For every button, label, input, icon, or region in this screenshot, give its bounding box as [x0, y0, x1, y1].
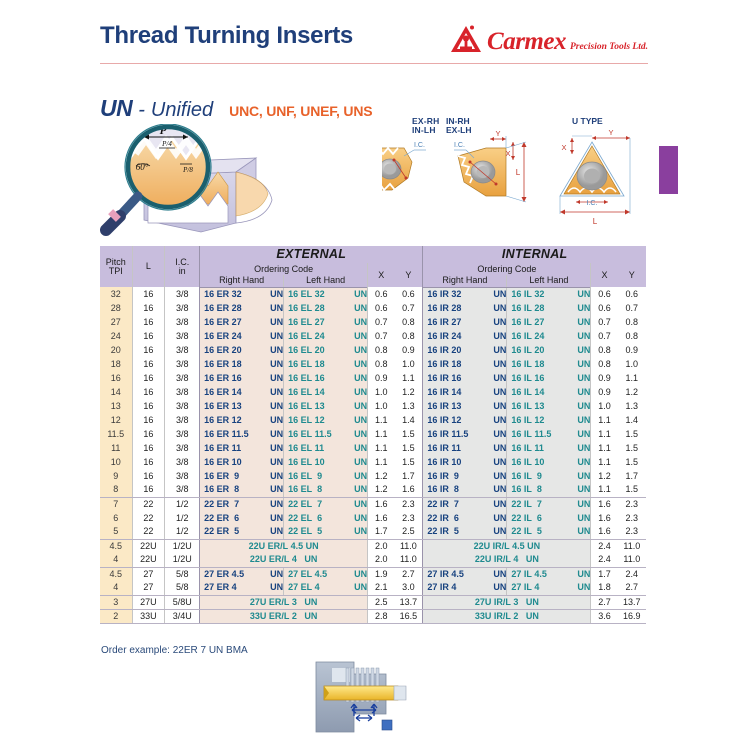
- table-row: 10163/816 ER 10UN16 EL 10UN1.11.516 IR 1…: [100, 455, 646, 469]
- table-row: 32163/816 ER 32UN16 EL 32UN0.60.616 IR 3…: [100, 287, 646, 301]
- diagram-1-ic-label: I.C.: [414, 142, 425, 149]
- cell-internal-code-merged: 33U IR/L 2 UN: [423, 609, 591, 623]
- cell-pitch: 4.5: [100, 539, 132, 553]
- cell-l: 16: [132, 287, 165, 301]
- cell-internal-right-hand: 27 IR 4UN: [423, 581, 507, 595]
- cell-internal-x: 2.4: [591, 553, 618, 567]
- cell-ic: 3/8: [165, 441, 200, 455]
- diagram-ex-rh-in-lh: EX-RH IN-LH I.C.: [382, 116, 439, 190]
- cell-external-x: 1.6: [368, 497, 395, 511]
- table-row: 11.5163/816 ER 11.5UN16 EL 11.5UN1.11.51…: [100, 427, 646, 441]
- cell-internal-left-hand: 22 IL 7UN: [507, 497, 591, 511]
- cell-ic: 1/2U: [165, 553, 200, 567]
- cell-internal-x: 1.1: [591, 455, 618, 469]
- table-row: 8163/816 ER 8UN16 EL 8UN1.21.616 IR 8UN1…: [100, 483, 646, 497]
- cell-external-left-hand: 16 EL 24UN: [284, 329, 368, 343]
- cell-external-y: 1.6: [394, 483, 423, 497]
- table-row: 4.522U1/2U22U ER/L 4.5 UN2.011.022U IR/L…: [100, 539, 646, 553]
- cell-external-y: 3.0: [394, 581, 423, 595]
- cell-internal-right-hand: 22 IR 7UN: [423, 497, 507, 511]
- cell-external-right-hand: 16 ER 12UN: [200, 413, 284, 427]
- cell-internal-x: 3.6: [591, 609, 618, 623]
- cell-internal-code-merged: 22U IR/L 4 UN: [423, 553, 591, 567]
- cell-external-left-hand: 27 EL 4.5UN: [284, 567, 368, 581]
- header-pitch: Pitch TPI: [100, 246, 132, 287]
- cell-internal-left-hand: 16 IL 13UN: [507, 399, 591, 413]
- diagram-in-rh-ex-lh: IN-RH EX-LH I.C. Y X: [446, 116, 527, 202]
- cell-external-y: 16.5: [394, 609, 423, 623]
- cell-internal-y: 1.5: [618, 441, 646, 455]
- cell-internal-y: 1.5: [618, 455, 646, 469]
- standard-dash: -: [138, 99, 145, 122]
- cell-external-x: 0.8: [368, 343, 395, 357]
- cell-pitch: 12: [100, 413, 132, 427]
- cell-external-y: 0.9: [394, 343, 423, 357]
- table-row: 233U3/4U33U ER/L 2 UN2.816.533U IR/L 2 U…: [100, 609, 646, 623]
- cell-external-left-hand: 16 EL 11UN: [284, 441, 368, 455]
- cell-l: 22: [132, 525, 165, 539]
- carmex-logo: Carmex Precision Tools Ltd.: [449, 24, 648, 54]
- cell-internal-right-hand: 16 IR 20UN: [423, 343, 507, 357]
- table-row: 28163/816 ER 28UN16 EL 28UN0.60.716 IR 2…: [100, 301, 646, 315]
- cell-internal-right-hand: 16 IR 28UN: [423, 301, 507, 315]
- cell-l: 27: [132, 581, 165, 595]
- cell-internal-x: 0.8: [591, 343, 618, 357]
- standard-variants: UNC, UNF, UNEF, UNS: [229, 103, 372, 119]
- cell-internal-x: 0.8: [591, 357, 618, 371]
- insert-diagrams: EX-RH IN-LH I.C. IN-RH EX-LH: [382, 112, 662, 242]
- cell-external-right-hand: 16 ER 9UN: [200, 469, 284, 483]
- cell-external-left-hand: 16 EL 32UN: [284, 287, 368, 301]
- cell-external-left-hand: 16 EL 28UN: [284, 301, 368, 315]
- diagram-3-ic-label: I.C.: [587, 200, 598, 207]
- cell-ic: 1/2U: [165, 539, 200, 553]
- cell-pitch: 4: [100, 553, 132, 567]
- diagram-3-y-label: Y: [608, 128, 613, 137]
- cell-external-right-hand: 16 ER 14UN: [200, 385, 284, 399]
- cell-internal-x: 0.6: [591, 287, 618, 301]
- cell-internal-x: 1.1: [591, 483, 618, 497]
- cell-internal-x: 0.7: [591, 329, 618, 343]
- cell-pitch: 20: [100, 343, 132, 357]
- table-row: 12163/816 ER 12UN16 EL 12UN1.11.416 IR 1…: [100, 413, 646, 427]
- cell-pitch: 27: [100, 315, 132, 329]
- cell-internal-y: 0.7: [618, 301, 646, 315]
- cell-internal-y: 1.2: [618, 385, 646, 399]
- standard-name: Unified: [151, 99, 213, 122]
- side-color-tab: [659, 146, 678, 194]
- cell-internal-left-hand: 16 IL 10UN: [507, 455, 591, 469]
- cell-ic: 3/4U: [165, 609, 200, 623]
- diagram-3-l-label: L: [593, 217, 598, 226]
- diagram-3-label: U TYPE: [572, 116, 603, 126]
- cell-ic: 1/2: [165, 525, 200, 539]
- cell-pitch: 14: [100, 385, 132, 399]
- diagram-2-y-label: Y: [495, 129, 500, 138]
- cell-l: 22: [132, 511, 165, 525]
- carmex-triangle-icon: [449, 24, 483, 54]
- cell-internal-y: 11.0: [618, 539, 646, 553]
- cell-pitch: 6: [100, 511, 132, 525]
- cell-internal-right-hand: 16 IR 11UN: [423, 441, 507, 455]
- cell-external-y: 2.5: [394, 525, 423, 539]
- cell-internal-y: 1.1: [618, 371, 646, 385]
- cell-external-x: 0.7: [368, 329, 395, 343]
- cell-pitch: 11.5: [100, 427, 132, 441]
- table-row: 4.5275/827 ER 4.5UN27 EL 4.5UN1.92.727 I…: [100, 567, 646, 581]
- cell-internal-right-hand: 16 IR 18UN: [423, 357, 507, 371]
- cell-external-x: 1.7: [368, 525, 395, 539]
- cell-ic: 3/8: [165, 455, 200, 469]
- cell-external-right-hand: 16 ER 24UN: [200, 329, 284, 343]
- cell-external-x: 0.8: [368, 357, 395, 371]
- header-l: L: [132, 246, 165, 287]
- cell-internal-x: 1.1: [591, 413, 618, 427]
- cell-pitch: 13: [100, 399, 132, 413]
- cell-ic: 5/8U: [165, 595, 200, 609]
- cell-internal-left-hand: 16 IL 28UN: [507, 301, 591, 315]
- cell-external-y: 1.5: [394, 455, 423, 469]
- cell-external-x: 1.0: [368, 399, 395, 413]
- cell-ic: 3/8: [165, 399, 200, 413]
- diagram-1-label-2: IN-LH: [412, 125, 436, 135]
- cell-external-right-hand: 22 ER 6UN: [200, 511, 284, 525]
- cell-external-right-hand: 27 ER 4UN: [200, 581, 284, 595]
- table-row: 11163/816 ER 11UN16 EL 11UN1.11.516 IR 1…: [100, 441, 646, 455]
- cell-external-y: 1.5: [394, 441, 423, 455]
- cell-external-x: 2.0: [368, 553, 395, 567]
- cell-external-y: 0.7: [394, 301, 423, 315]
- cell-ic: 5/8: [165, 567, 200, 581]
- cell-internal-y: 2.4: [618, 567, 646, 581]
- cell-external-y: 1.5: [394, 427, 423, 441]
- cell-external-x: 1.1: [368, 455, 395, 469]
- cell-pitch: 4.5: [100, 567, 132, 581]
- diagram-3-x-label: X: [561, 143, 566, 152]
- cell-external-left-hand: 22 EL 6UN: [284, 511, 368, 525]
- cell-external-right-hand: 16 ER 11.5UN: [200, 427, 284, 441]
- cell-l: 16: [132, 301, 165, 315]
- cell-external-x: 2.5: [368, 595, 395, 609]
- cell-external-y: 1.3: [394, 399, 423, 413]
- cell-external-left-hand: 16 EL 10UN: [284, 455, 368, 469]
- cell-pitch: 28: [100, 301, 132, 315]
- cell-external-x: 1.1: [368, 427, 395, 441]
- cell-internal-y: 0.8: [618, 315, 646, 329]
- cell-internal-left-hand: 16 IL 20UN: [507, 343, 591, 357]
- cell-ic: 3/8: [165, 301, 200, 315]
- header-internal-left-hand: Left Hand: [507, 275, 591, 287]
- cell-external-y: 11.0: [394, 539, 423, 553]
- cell-internal-x: 1.1: [591, 427, 618, 441]
- cell-external-y: 2.3: [394, 511, 423, 525]
- cell-internal-left-hand: 16 IL 11UN: [507, 441, 591, 455]
- cell-internal-left-hand: 16 IL 8UN: [507, 483, 591, 497]
- table-row: 9163/816 ER 9UN16 EL 9UN1.21.716 IR 9UN1…: [100, 469, 646, 483]
- cell-l: 33U: [132, 609, 165, 623]
- cell-external-y: 1.1: [394, 371, 423, 385]
- cell-external-y: 1.4: [394, 413, 423, 427]
- cell-external-right-hand: 16 ER 18UN: [200, 357, 284, 371]
- tool-application-illustration: [302, 658, 422, 747]
- table-row: 24163/816 ER 24UN16 EL 24UN0.70.816 IR 2…: [100, 329, 646, 343]
- cell-internal-x: 1.1: [591, 441, 618, 455]
- cell-external-left-hand: 16 EL 14UN: [284, 385, 368, 399]
- cell-external-left-hand: 16 EL 9UN: [284, 469, 368, 483]
- table-row: 18163/816 ER 18UN16 EL 18UN0.81.016 IR 1…: [100, 357, 646, 371]
- cell-internal-y: 2.3: [618, 525, 646, 539]
- thread-profile-illustration: P P/4 P/8 60°: [96, 124, 331, 241]
- header-external-ordering-code: Ordering Code: [200, 263, 368, 275]
- specification-table-wrapper: Pitch TPI L I.C. in EXTERNAL INTERNAL Or…: [100, 246, 646, 624]
- cell-external-x: 0.6: [368, 287, 395, 301]
- cell-external-x: 1.6: [368, 511, 395, 525]
- cell-l: 16: [132, 329, 165, 343]
- cell-external-right-hand: 16 ER 28UN: [200, 301, 284, 315]
- insert-marker: [382, 720, 392, 730]
- cell-external-left-hand: 16 EL 27UN: [284, 315, 368, 329]
- header-external-left-hand: Left Hand: [284, 275, 368, 287]
- cell-ic: 3/8: [165, 371, 200, 385]
- page-root: Thread Turning Inserts Carmex Precision …: [0, 0, 747, 747]
- cell-external-right-hand: 16 ER 8UN: [200, 483, 284, 497]
- cell-external-x: 2.8: [368, 609, 395, 623]
- cell-internal-y: 0.8: [618, 329, 646, 343]
- cell-internal-right-hand: 16 IR 11.5UN: [423, 427, 507, 441]
- cell-internal-y: 11.0: [618, 553, 646, 567]
- cell-external-x: 1.0: [368, 385, 395, 399]
- cell-external-right-hand: 27 ER 4.5UN: [200, 567, 284, 581]
- table-row: 4275/827 ER 4UN27 EL 4UN2.13.027 IR 4UN2…: [100, 581, 646, 595]
- cell-external-x: 1.2: [368, 483, 395, 497]
- cell-internal-x: 1.0: [591, 399, 618, 413]
- p8-dim-label: P/8: [182, 166, 193, 174]
- cell-pitch: 2: [100, 609, 132, 623]
- cell-external-left-hand: 22 EL 7UN: [284, 497, 368, 511]
- cell-internal-left-hand: 16 IL 12UN: [507, 413, 591, 427]
- cell-internal-left-hand: 16 IL 18UN: [507, 357, 591, 371]
- cell-l: 16: [132, 441, 165, 455]
- cell-internal-right-hand: 16 IR 27UN: [423, 315, 507, 329]
- cell-external-y: 1.7: [394, 469, 423, 483]
- table-row: 5221/222 ER 5UN22 EL 5UN1.72.522 IR 5UN2…: [100, 525, 646, 539]
- cell-external-left-hand: 27 EL 4UN: [284, 581, 368, 595]
- header-external: EXTERNAL: [200, 246, 423, 263]
- order-example-text: Order example: 22ER 7 UN BMA: [101, 645, 248, 656]
- cell-ic: 3/8: [165, 329, 200, 343]
- table-header-group-row: Pitch TPI L I.C. in EXTERNAL INTERNAL: [100, 246, 646, 263]
- cell-external-x: 2.1: [368, 581, 395, 595]
- cell-internal-y: 2.7: [618, 581, 646, 595]
- cell-internal-y: 1.7: [618, 469, 646, 483]
- cell-external-right-hand: 22 ER 7UN: [200, 497, 284, 511]
- cell-internal-x: 0.9: [591, 385, 618, 399]
- cell-internal-left-hand: 16 IL 16UN: [507, 371, 591, 385]
- cell-pitch: 18: [100, 357, 132, 371]
- cell-external-right-hand: 16 ER 16UN: [200, 371, 284, 385]
- cell-internal-left-hand: 27 IL 4UN: [507, 581, 591, 595]
- cell-ic: 3/8: [165, 483, 200, 497]
- header-internal-right-hand: Right Hand: [423, 275, 507, 287]
- header-external-right-hand: Right Hand: [200, 275, 284, 287]
- cell-l: 22U: [132, 539, 165, 553]
- cell-ic: 3/8: [165, 357, 200, 371]
- cell-external-left-hand: 16 EL 18UN: [284, 357, 368, 371]
- cell-ic: 3/8: [165, 427, 200, 441]
- cell-internal-left-hand: 27 IL 4.5UN: [507, 567, 591, 581]
- cell-external-left-hand: 22 EL 5UN: [284, 525, 368, 539]
- cell-external-y: 0.6: [394, 287, 423, 301]
- cell-ic: 1/2: [165, 511, 200, 525]
- diagram-2-l-label: L: [516, 168, 521, 177]
- header-ic: I.C. in: [165, 246, 200, 287]
- cell-external-x: 1.9: [368, 567, 395, 581]
- table-row: 7221/222 ER 7UN22 EL 7UN1.62.322 IR 7UN2…: [100, 497, 646, 511]
- cell-internal-x: 0.6: [591, 301, 618, 315]
- cell-ic: 3/8: [165, 469, 200, 483]
- standard-subtitle: UN - Unified UNC, UNF, UNEF, UNS: [100, 95, 372, 122]
- cell-external-x: 1.1: [368, 413, 395, 427]
- diagram-2-ic-label: I.C.: [454, 142, 465, 149]
- cell-l: 16: [132, 357, 165, 371]
- cell-ic: 3/8: [165, 385, 200, 399]
- brand-name: Carmex: [487, 29, 566, 54]
- cell-l: 16: [132, 371, 165, 385]
- cell-internal-right-hand: 16 IR 14UN: [423, 385, 507, 399]
- cell-external-y: 1.0: [394, 357, 423, 371]
- cell-l: 16: [132, 343, 165, 357]
- cell-internal-x: 0.7: [591, 315, 618, 329]
- cell-internal-right-hand: 16 IR 9UN: [423, 469, 507, 483]
- cell-internal-y: 1.5: [618, 427, 646, 441]
- cell-external-code-merged: 27U ER/L 3 UN: [200, 595, 368, 609]
- cell-l: 22U: [132, 553, 165, 567]
- cell-external-x: 0.6: [368, 301, 395, 315]
- cell-ic: 3/8: [165, 413, 200, 427]
- cell-internal-right-hand: 16 IR 10UN: [423, 455, 507, 469]
- cell-external-y: 0.8: [394, 315, 423, 329]
- cell-pitch: 3: [100, 595, 132, 609]
- table-row: 422U1/2U22U ER/L 4 UN2.011.022U IR/L 4 U…: [100, 553, 646, 567]
- cell-pitch: 9: [100, 469, 132, 483]
- table-row: 20163/816 ER 20UN16 EL 20UN0.80.916 IR 2…: [100, 343, 646, 357]
- cell-internal-code-merged: 27U IR/L 3 UN: [423, 595, 591, 609]
- cell-external-left-hand: 16 EL 16UN: [284, 371, 368, 385]
- cell-external-code-merged: 22U ER/L 4 UN: [200, 553, 368, 567]
- cell-l: 16: [132, 315, 165, 329]
- cell-ic: 5/8: [165, 581, 200, 595]
- cell-external-left-hand: 16 EL 8UN: [284, 483, 368, 497]
- cell-internal-x: 1.7: [591, 567, 618, 581]
- cell-internal-x: 2.4: [591, 539, 618, 553]
- cell-pitch: 7: [100, 497, 132, 511]
- cell-internal-y: 1.3: [618, 399, 646, 413]
- cell-external-y: 1.2: [394, 385, 423, 399]
- cell-internal-right-hand: 16 IR 12UN: [423, 413, 507, 427]
- cell-l: 16: [132, 413, 165, 427]
- cell-pitch: 10: [100, 455, 132, 469]
- cell-internal-x: 1.6: [591, 525, 618, 539]
- diagram-2-label-2: EX-LH: [446, 125, 472, 135]
- cell-external-y: 13.7: [394, 595, 423, 609]
- cell-pitch: 11: [100, 441, 132, 455]
- cell-internal-y: 1.4: [618, 413, 646, 427]
- cell-internal-code-merged: 22U IR/L 4.5 UN: [423, 539, 591, 553]
- table-row: 13163/816 ER 13UN16 EL 13UN1.01.316 IR 1…: [100, 399, 646, 413]
- cell-internal-x: 0.9: [591, 371, 618, 385]
- cell-internal-y: 1.5: [618, 483, 646, 497]
- cell-l: 22: [132, 497, 165, 511]
- cell-l: 16: [132, 455, 165, 469]
- cell-external-code-merged: 22U ER/L 4.5 UN: [200, 539, 368, 553]
- cell-external-x: 2.0: [368, 539, 395, 553]
- table-row: 327U5/8U27U ER/L 3 UN2.513.727U IR/L 3 U…: [100, 595, 646, 609]
- cell-external-y: 2.7: [394, 567, 423, 581]
- cell-internal-right-hand: 16 IR 8UN: [423, 483, 507, 497]
- page-title: Thread Turning Inserts: [100, 22, 353, 50]
- table-row: 16163/816 ER 16UN16 EL 16UN0.91.116 IR 1…: [100, 371, 646, 385]
- cell-internal-left-hand: 16 IL 24UN: [507, 329, 591, 343]
- cell-external-y: 2.3: [394, 497, 423, 511]
- cell-internal-left-hand: 22 IL 6UN: [507, 511, 591, 525]
- diagram-u-type: U TYPE Y X I.C.: [560, 116, 630, 226]
- cell-external-right-hand: 22 ER 5UN: [200, 525, 284, 539]
- cell-l: 16: [132, 483, 165, 497]
- header-internal-y: Y: [618, 263, 646, 287]
- brand-tagline: Precision Tools Ltd.: [570, 42, 648, 54]
- cell-internal-x: 2.7: [591, 595, 618, 609]
- cell-internal-left-hand: 16 IL 9UN: [507, 469, 591, 483]
- header-internal: INTERNAL: [423, 246, 646, 263]
- cell-ic: 1/2: [165, 497, 200, 511]
- cell-pitch: 8: [100, 483, 132, 497]
- cell-l: 16: [132, 385, 165, 399]
- cell-internal-left-hand: 16 IL 27UN: [507, 315, 591, 329]
- p4-dim-label: P/4: [161, 140, 172, 148]
- cell-internal-y: 0.6: [618, 287, 646, 301]
- cell-external-left-hand: 16 EL 11.5UN: [284, 427, 368, 441]
- cell-internal-right-hand: 16 IR 32UN: [423, 287, 507, 301]
- cell-external-y: 11.0: [394, 553, 423, 567]
- cell-pitch: 24: [100, 329, 132, 343]
- cell-internal-right-hand: 16 IR 24UN: [423, 329, 507, 343]
- cell-external-y: 0.8: [394, 329, 423, 343]
- cell-internal-right-hand: 22 IR 5UN: [423, 525, 507, 539]
- cell-external-x: 0.7: [368, 315, 395, 329]
- cell-internal-right-hand: 27 IR 4.5UN: [423, 567, 507, 581]
- cell-internal-y: 2.3: [618, 497, 646, 511]
- cell-internal-y: 16.9: [618, 609, 646, 623]
- table-row: 6221/222 ER 6UN22 EL 6UN1.62.322 IR 6UN2…: [100, 511, 646, 525]
- cell-l: 27: [132, 567, 165, 581]
- cell-internal-right-hand: 22 IR 6UN: [423, 511, 507, 525]
- cell-external-right-hand: 16 ER 11UN: [200, 441, 284, 455]
- cell-pitch: 4: [100, 581, 132, 595]
- turning-tool: [324, 686, 404, 700]
- page-header: Thread Turning Inserts Carmex Precision …: [100, 22, 648, 66]
- specification-table: Pitch TPI L I.C. in EXTERNAL INTERNAL Or…: [100, 246, 646, 624]
- cell-ic: 3/8: [165, 287, 200, 301]
- cell-internal-y: 1.0: [618, 357, 646, 371]
- cell-pitch: 5: [100, 525, 132, 539]
- cell-external-x: 1.2: [368, 469, 395, 483]
- table-body: 32163/816 ER 32UN16 EL 32UN0.60.616 IR 3…: [100, 287, 646, 623]
- cell-ic: 3/8: [165, 315, 200, 329]
- table-head: Pitch TPI L I.C. in EXTERNAL INTERNAL Or…: [100, 246, 646, 287]
- header-external-y: Y: [394, 263, 423, 287]
- cell-l: 16: [132, 399, 165, 413]
- cell-external-right-hand: 16 ER 20UN: [200, 343, 284, 357]
